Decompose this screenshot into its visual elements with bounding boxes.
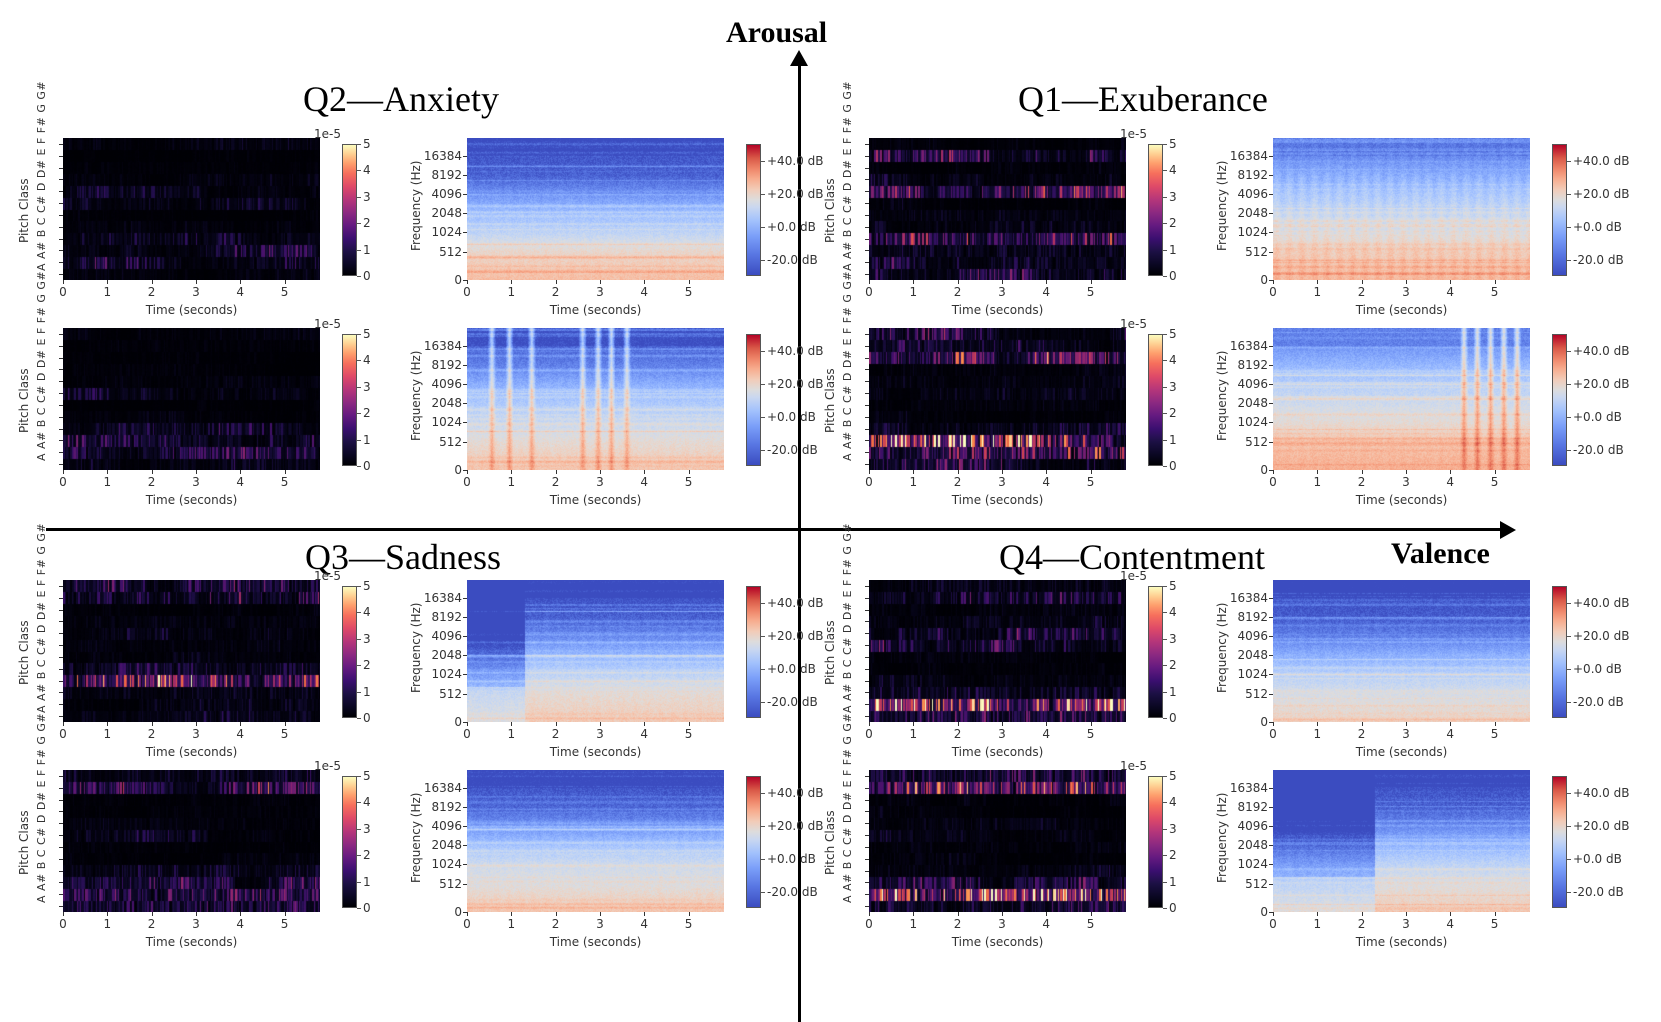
ylabel-q4-row2-chromagram: Pitch Class [823, 810, 837, 875]
colorbar-tick-mark-q1-row2-chromagram-5 [1163, 334, 1167, 335]
xtick-mark-q2-row2-spectrogram-2 [556, 470, 557, 474]
xtick-mark-q1-row2-spectrogram-1 [1317, 470, 1318, 474]
ytick-mark-q1-row1-spectrogram-1024 [1269, 232, 1273, 233]
spectrogram-image-q2-row2-spectrogram [467, 328, 724, 470]
panel-q2-row2-spectrogram: Frequency (Hz)05121024204840968192163840… [467, 328, 844, 515]
ytick-mark-q4-row1-chromagram-2 [865, 692, 869, 693]
xtick-mark-q3-row1-chromagram-3 [196, 722, 197, 726]
xtick-mark-q4-row2-spectrogram-1 [1317, 912, 1318, 916]
ytick-mark-q1-row2-chromagram-8 [865, 369, 869, 370]
xtick-q1-row2-chromagram-0: 0 [857, 475, 881, 489]
ytick-mark-q1-row2-chromagram-7 [865, 381, 869, 382]
ytick-mark-q4-row2-chromagram-7 [865, 823, 869, 824]
colorbar-q4-row2-spectrogram [1552, 776, 1567, 908]
ytick-q1-row1-spectrogram-16384: 16384 [1223, 149, 1268, 163]
chromagram-image-q3-row1-chromagram [63, 580, 320, 722]
ytick-q3-row2-spectrogram-16384: 16384 [417, 781, 462, 795]
ytick-mark-q2-row2-chromagram-1 [59, 452, 63, 453]
chromagram-image-q4-row2-chromagram [869, 770, 1126, 912]
colorbar-tick-mark-q1-row1-chromagram-3 [1163, 197, 1167, 198]
colorbar-tick-q2-row1-chromagram-5: 5 [363, 137, 371, 151]
ytick-mark-q3-row1-spectrogram-16384 [463, 598, 467, 599]
panel-q1-row2-spectrogram: Frequency (Hz)05121024204840968192163840… [1273, 328, 1650, 515]
panel-q1-row1-spectrogram: Frequency (Hz)05121024204840968192163840… [1273, 138, 1650, 325]
xtick-mark-q4-row2-spectrogram-0 [1273, 912, 1274, 916]
colorbar-tick-mark-q4-row1-spectrogram-0 [1567, 702, 1571, 703]
ytick-mark-q2-row1-chromagram-1 [59, 262, 63, 263]
xtick-mark-q2-row2-spectrogram-5 [689, 470, 690, 474]
spectrogram-image-q4-row1-spectrogram [1273, 580, 1530, 722]
xtick-mark-q3-row2-spectrogram-3 [600, 912, 601, 916]
xtick-q2-row1-chromagram-4: 4 [228, 285, 252, 299]
ytick-mark-q4-row1-chromagram-8 [865, 621, 869, 622]
xtick-q1-row2-chromagram-3: 3 [990, 475, 1014, 489]
xtick-q4-row2-spectrogram-2: 2 [1350, 917, 1374, 931]
ytick-mark-q2-row1-chromagram-10 [59, 156, 63, 157]
xtick-q4-row2-chromagram-1: 1 [901, 917, 925, 931]
ytick-mark-q2-row2-chromagram-5 [59, 405, 63, 406]
xtick-q1-row2-chromagram-2: 2 [946, 475, 970, 489]
ytick-mark-q3-row2-chromagram-7 [59, 823, 63, 824]
ytick-mark-q3-row1-spectrogram-2048 [463, 655, 467, 656]
xtick-mark-q1-row2-chromagram-3 [1002, 470, 1003, 474]
xtick-q3-row2-spectrogram-3: 3 [588, 917, 612, 931]
ytick-q4-row2-spectrogram-16384: 16384 [1223, 781, 1268, 795]
panel-q3-row2-spectrogram: Frequency (Hz)05121024204840968192163840… [467, 770, 844, 957]
panel-q4-row2-spectrogram: Frequency (Hz)05121024204840968192163840… [1273, 770, 1650, 957]
xtick-mark-q4-row1-spectrogram-3 [1406, 722, 1407, 726]
ytick-mark-q4-row2-chromagram-6 [865, 835, 869, 836]
colorbar-tick-q2-row1-chromagram-3: 3 [363, 190, 371, 204]
colorbar-tick-mark-q1-row2-spectrogram-3 [1567, 351, 1571, 352]
colorbar-tick-mark-q3-row2-spectrogram-2 [761, 826, 765, 827]
ytick-labels-q2-row1-chromagram: A A# B C C# D D# E F F# G G# [35, 81, 48, 271]
panel-q4-row2-chromagram: Pitch ClassA A# B C C# D D# E F F# G G#0… [869, 770, 1246, 957]
colorbar-tick-mark-q4-row2-chromagram-5 [1163, 776, 1167, 777]
colorbar-exponent-q2-row1-chromagram: 1e-5 [314, 127, 341, 141]
ytick-mark-q3-row1-chromagram-7 [59, 633, 63, 634]
xtick-q1-row1-chromagram-0: 0 [857, 285, 881, 299]
ytick-q2-row2-spectrogram-8192: 8192 [417, 358, 462, 372]
plot-area-q3-row2-chromagram [63, 770, 320, 912]
xlabel-q3-row2-chromagram: Time (seconds) [63, 935, 320, 949]
xtick-mark-q3-row2-chromagram-1 [107, 912, 108, 916]
ytick-mark-q4-row1-chromagram-9 [865, 610, 869, 611]
colorbar-tick-mark-q3-row2-spectrogram-0 [761, 892, 765, 893]
xtick-q1-row1-spectrogram-3: 3 [1394, 285, 1418, 299]
xtick-mark-q1-row1-spectrogram-3 [1406, 280, 1407, 284]
ytick-mark-q3-row1-chromagram-0 [59, 716, 63, 717]
colorbar-tick-mark-q4-row2-chromagram-4 [1163, 802, 1167, 803]
xtick-mark-q2-row2-chromagram-1 [107, 470, 108, 474]
ytick-mark-q1-row2-chromagram-6 [865, 393, 869, 394]
spectrogram-image-q3-row2-spectrogram [467, 770, 724, 912]
colorbar-tick-q4-row1-chromagram-1: 1 [1169, 685, 1177, 699]
xtick-mark-q2-row1-chromagram-4 [240, 280, 241, 284]
ytick-mark-q4-row2-spectrogram-512 [1269, 884, 1273, 885]
colorbar-tick-q3-row1-chromagram-4: 4 [363, 605, 371, 619]
xtick-mark-q2-row2-chromagram-0 [63, 470, 64, 474]
ytick-mark-q1-row2-chromagram-3 [865, 429, 869, 430]
plot-area-q2-row2-spectrogram [467, 328, 724, 470]
ytick-mark-q1-row2-chromagram-0 [865, 464, 869, 465]
xlabel-q4-row1-chromagram: Time (seconds) [869, 745, 1126, 759]
colorbar-tick-mark-q2-row2-spectrogram-1 [761, 417, 765, 418]
colorbar-tick-mark-q1-row1-spectrogram-0 [1567, 260, 1571, 261]
xtick-q4-row1-chromagram-4: 4 [1034, 727, 1058, 741]
colorbar-q3-row2-spectrogram [746, 776, 761, 908]
ytick-q4-row1-spectrogram-1024: 1024 [1223, 667, 1268, 681]
ytick-mark-q1-row2-spectrogram-8192 [1269, 365, 1273, 366]
colorbar-tick-q1-row1-chromagram-2: 2 [1169, 216, 1177, 230]
xtick-mark-q3-row2-spectrogram-2 [556, 912, 557, 916]
xtick-mark-q2-row1-spectrogram-2 [556, 280, 557, 284]
xtick-q1-row1-spectrogram-2: 2 [1350, 285, 1374, 299]
xtick-mark-q4-row2-spectrogram-4 [1450, 912, 1451, 916]
colorbar-tick-q2-row2-chromagram-3: 3 [363, 380, 371, 394]
colorbar-tick-q1-row1-spectrogram-1: +0.0 dB [1573, 220, 1622, 234]
colorbar-tick-mark-q3-row2-spectrogram-1 [761, 859, 765, 860]
ytick-mark-q1-row2-spectrogram-16384 [1269, 346, 1273, 347]
xtick-q4-row1-spectrogram-0: 0 [1261, 727, 1285, 741]
ytick-mark-q1-row2-spectrogram-1024 [1269, 422, 1273, 423]
xtick-mark-q3-row2-spectrogram-5 [689, 912, 690, 916]
ytick-labels-q2-row2-chromagram: A A# B C C# D D# E F F# G G# [35, 271, 48, 461]
colorbar-q3-row1-chromagram [342, 586, 357, 718]
xtick-q2-row1-spectrogram-0: 0 [455, 285, 479, 299]
ytick-mark-q2-row2-chromagram-9 [59, 358, 63, 359]
ytick-mark-q1-row2-chromagram-11 [865, 334, 869, 335]
ytick-mark-q2-row1-spectrogram-1024 [463, 232, 467, 233]
panel-q1-row1-chromagram: Pitch ClassA A# B C C# D D# E F F# G G#0… [869, 138, 1246, 325]
ylabel-q4-row1-chromagram: Pitch Class [823, 620, 837, 685]
colorbar-tick-q3-row1-chromagram-1: 1 [363, 685, 371, 699]
colorbar-tick-mark-q2-row1-spectrogram-0 [761, 260, 765, 261]
xtick-mark-q3-row1-chromagram-4 [240, 722, 241, 726]
xtick-mark-q1-row2-spectrogram-2 [1362, 470, 1363, 474]
ytick-mark-q2-row2-spectrogram-2048 [463, 403, 467, 404]
xtick-mark-q3-row2-spectrogram-4 [644, 912, 645, 916]
ytick-q4-row2-spectrogram-8192: 8192 [1223, 800, 1268, 814]
colorbar-tick-q2-row2-spectrogram-2: +20.0 dB [767, 377, 823, 391]
ytick-q4-row2-spectrogram-1024: 1024 [1223, 857, 1268, 871]
ytick-mark-q4-row2-chromagram-4 [865, 859, 869, 860]
xtick-mark-q2-row1-chromagram-0 [63, 280, 64, 284]
colorbar-tick-mark-q2-row2-chromagram-0 [357, 466, 361, 467]
ytick-mark-q3-row2-chromagram-9 [59, 800, 63, 801]
ylabel-q1-row1-chromagram: Pitch Class [823, 178, 837, 243]
colorbar-tick-q1-row1-chromagram-0: 0 [1169, 269, 1177, 283]
xtick-mark-q1-row1-spectrogram-4 [1450, 280, 1451, 284]
ytick-mark-q2-row1-spectrogram-8192 [463, 175, 467, 176]
plot-area-q3-row2-spectrogram [467, 770, 724, 912]
colorbar-tick-q1-row2-spectrogram-1: +0.0 dB [1573, 410, 1622, 424]
colorbar-tick-q2-row1-spectrogram-2: +20.0 dB [767, 187, 823, 201]
xtick-q4-row1-chromagram-1: 1 [901, 727, 925, 741]
plot-area-q2-row1-chromagram [63, 138, 320, 280]
panel-q2-row1-spectrogram: Frequency (Hz)05121024204840968192163840… [467, 138, 844, 325]
xtick-q2-row2-spectrogram-3: 3 [588, 475, 612, 489]
panel-q2-row1-chromagram: Pitch ClassA A# B C C# D D# E F F# G G#0… [63, 138, 440, 325]
ytick-mark-q2-row1-spectrogram-2048 [463, 213, 467, 214]
colorbar-tick-mark-q3-row1-spectrogram-3 [761, 603, 765, 604]
xtick-q3-row2-spectrogram-4: 4 [632, 917, 656, 931]
xlabel-q4-row2-chromagram: Time (seconds) [869, 935, 1126, 949]
ytick-q1-row2-spectrogram-1024: 1024 [1223, 415, 1268, 429]
xtick-q3-row1-spectrogram-3: 3 [588, 727, 612, 741]
xlabel-q2-row2-chromagram: Time (seconds) [63, 493, 320, 507]
ylabel-q3-row2-chromagram: Pitch Class [17, 810, 31, 875]
xtick-q1-row2-spectrogram-0: 0 [1261, 475, 1285, 489]
ytick-q4-row1-spectrogram-4096: 4096 [1223, 629, 1268, 643]
ytick-q3-row1-spectrogram-16384: 16384 [417, 591, 462, 605]
colorbar-tick-q3-row2-chromagram-5: 5 [363, 769, 371, 783]
colorbar-tick-mark-q4-row2-chromagram-3 [1163, 829, 1167, 830]
ytick-q2-row1-spectrogram-512: 512 [417, 245, 462, 259]
xtick-mark-q1-row1-spectrogram-2 [1362, 280, 1363, 284]
ytick-labels-q1-row1-chromagram: A A# B C C# D D# E F F# G G# [841, 81, 854, 271]
ytick-mark-q1-row1-chromagram-8 [865, 179, 869, 180]
xtick-q4-row2-chromagram-5: 5 [1079, 917, 1103, 931]
xtick-mark-q1-row2-spectrogram-5 [1495, 470, 1496, 474]
colorbar-tick-q2-row2-chromagram-2: 2 [363, 406, 371, 420]
plot-area-q3-row1-chromagram [63, 580, 320, 722]
colorbar-q3-row1-spectrogram [746, 586, 761, 718]
colorbar-tick-mark-q2-row1-spectrogram-2 [761, 194, 765, 195]
ytick-mark-q3-row2-chromagram-0 [59, 906, 63, 907]
ytick-mark-q4-row1-chromagram-5 [865, 657, 869, 658]
colorbar-tick-mark-q1-row2-chromagram-2 [1163, 413, 1167, 414]
spectrogram-image-q1-row1-spectrogram [1273, 138, 1530, 280]
xtick-mark-q4-row1-chromagram-2 [958, 722, 959, 726]
ytick-mark-q4-row1-chromagram-1 [865, 704, 869, 705]
xlabel-q4-row1-spectrogram: Time (seconds) [1273, 745, 1530, 759]
colorbar-tick-mark-q2-row1-chromagram-4 [357, 170, 361, 171]
panel-q3-row2-chromagram: Pitch ClassA A# B C C# D D# E F F# G G#0… [63, 770, 440, 957]
colorbar-tick-mark-q4-row2-spectrogram-1 [1567, 859, 1571, 860]
xlabel-q3-row1-chromagram: Time (seconds) [63, 745, 320, 759]
plot-area-q3-row1-spectrogram [467, 580, 724, 722]
colorbar-tick-q2-row1-chromagram-2: 2 [363, 216, 371, 230]
xtick-q4-row1-spectrogram-4: 4 [1438, 727, 1462, 741]
xlabel-q4-row2-spectrogram: Time (seconds) [1273, 935, 1530, 949]
colorbar-tick-q3-row2-spectrogram-0: -20.0 dB [767, 885, 818, 899]
colorbar-tick-q2-row1-chromagram-0: 0 [363, 269, 371, 283]
xtick-mark-q4-row1-chromagram-5 [1091, 722, 1092, 726]
xtick-mark-q1-row2-chromagram-5 [1091, 470, 1092, 474]
xtick-q2-row2-chromagram-5: 5 [273, 475, 297, 489]
ytick-labels-q4-row1-chromagram: A A# B C C# D D# E F F# G G# [841, 523, 854, 713]
ytick-q2-row1-spectrogram-8192: 8192 [417, 168, 462, 182]
xtick-mark-q4-row2-spectrogram-5 [1495, 912, 1496, 916]
ytick-mark-q3-row2-chromagram-5 [59, 847, 63, 848]
figure-root: Arousal Valence Q2—Anxiety Q1—Exuberance… [0, 0, 1661, 1022]
colorbar-tick-mark-q1-row1-spectrogram-3 [1567, 161, 1571, 162]
ytick-mark-q3-row1-spectrogram-8192 [463, 617, 467, 618]
xtick-mark-q2-row2-chromagram-5 [285, 470, 286, 474]
xtick-mark-q1-row2-chromagram-0 [869, 470, 870, 474]
colorbar-tick-q3-row1-spectrogram-2: +20.0 dB [767, 629, 823, 643]
ytick-mark-q2-row2-chromagram-11 [59, 334, 63, 335]
xtick-mark-q2-row2-chromagram-2 [152, 470, 153, 474]
xtick-mark-q2-row1-chromagram-1 [107, 280, 108, 284]
xtick-mark-q1-row2-spectrogram-3 [1406, 470, 1407, 474]
xlabel-q3-row2-spectrogram: Time (seconds) [467, 935, 724, 949]
colorbar-tick-q4-row1-spectrogram-0: -20.0 dB [1573, 695, 1624, 709]
xlabel-q3-row1-spectrogram: Time (seconds) [467, 745, 724, 759]
colorbar-tick-q3-row2-spectrogram-1: +0.0 dB [767, 852, 816, 866]
colorbar-tick-mark-q3-row2-chromagram-5 [357, 776, 361, 777]
xtick-mark-q4-row1-spectrogram-5 [1495, 722, 1496, 726]
colorbar-tick-q4-row2-chromagram-3: 3 [1169, 822, 1177, 836]
colorbar-q4-row1-spectrogram [1552, 586, 1567, 718]
xtick-q2-row2-spectrogram-5: 5 [677, 475, 701, 489]
xtick-mark-q4-row2-chromagram-3 [1002, 912, 1003, 916]
colorbar-tick-q4-row1-spectrogram-1: +0.0 dB [1573, 662, 1622, 676]
xtick-mark-q2-row2-spectrogram-0 [467, 470, 468, 474]
ytick-mark-q1-row1-chromagram-9 [865, 168, 869, 169]
ytick-mark-q4-row1-chromagram-11 [865, 586, 869, 587]
ytick-mark-q4-row1-chromagram-4 [865, 669, 869, 670]
xtick-mark-q1-row2-chromagram-4 [1046, 470, 1047, 474]
ytick-q2-row2-spectrogram-4096: 4096 [417, 377, 462, 391]
ylabel-q1-row2-chromagram: Pitch Class [823, 368, 837, 433]
ytick-q2-row1-spectrogram-16384: 16384 [417, 149, 462, 163]
plot-area-q4-row1-chromagram [869, 580, 1126, 722]
xtick-mark-q4-row1-chromagram-4 [1046, 722, 1047, 726]
colorbar-tick-mark-q3-row2-spectrogram-3 [761, 793, 765, 794]
ytick-mark-q2-row1-chromagram-11 [59, 144, 63, 145]
xtick-q4-row1-spectrogram-2: 2 [1350, 727, 1374, 741]
ytick-q3-row1-spectrogram-4096: 4096 [417, 629, 462, 643]
ytick-mark-q2-row2-spectrogram-4096 [463, 384, 467, 385]
colorbar-tick-q3-row1-spectrogram-3: +40.0 dB [767, 596, 823, 610]
colorbar-tick-q4-row2-chromagram-5: 5 [1169, 769, 1177, 783]
xtick-mark-q2-row2-chromagram-4 [240, 470, 241, 474]
xtick-q3-row2-chromagram-3: 3 [184, 917, 208, 931]
quadrant-title-q2: Q2—Anxiety [303, 78, 499, 120]
xtick-q2-row1-chromagram-0: 0 [51, 285, 75, 299]
xtick-mark-q1-row2-chromagram-2 [958, 470, 959, 474]
xtick-q1-row1-chromagram-1: 1 [901, 285, 925, 299]
ytick-q1-row2-spectrogram-2048: 2048 [1223, 396, 1268, 410]
colorbar-q3-row2-chromagram [342, 776, 357, 908]
colorbar-tick-q2-row1-spectrogram-0: -20.0 dB [767, 253, 818, 267]
ytick-mark-q1-row1-spectrogram-512 [1269, 252, 1273, 253]
xtick-q1-row2-spectrogram-5: 5 [1483, 475, 1507, 489]
ytick-q1-row2-spectrogram-512: 512 [1223, 435, 1268, 449]
colorbar-tick-mark-q1-row1-chromagram-5 [1163, 144, 1167, 145]
xtick-mark-q2-row2-spectrogram-3 [600, 470, 601, 474]
ytick-mark-q2-row2-chromagram-2 [59, 440, 63, 441]
colorbar-tick-mark-q1-row2-spectrogram-2 [1567, 384, 1571, 385]
ytick-mark-q4-row1-chromagram-7 [865, 633, 869, 634]
colorbar-tick-mark-q1-row1-chromagram-4 [1163, 170, 1167, 171]
xtick-mark-q2-row1-spectrogram-5 [689, 280, 690, 284]
colorbar-tick-mark-q1-row1-chromagram-1 [1163, 250, 1167, 251]
colorbar-tick-q3-row1-spectrogram-0: -20.0 dB [767, 695, 818, 709]
xtick-mark-q4-row2-spectrogram-2 [1362, 912, 1363, 916]
ytick-mark-q3-row1-chromagram-10 [59, 598, 63, 599]
ytick-mark-q1-row2-chromagram-10 [865, 346, 869, 347]
colorbar-tick-q3-row2-chromagram-4: 4 [363, 795, 371, 809]
colorbar-tick-mark-q4-row2-chromagram-1 [1163, 882, 1167, 883]
xtick-q3-row1-chromagram-0: 0 [51, 727, 75, 741]
spectrogram-image-q1-row2-spectrogram [1273, 328, 1530, 470]
colorbar-q2-row2-chromagram [342, 334, 357, 466]
xlabel-q2-row1-spectrogram: Time (seconds) [467, 303, 724, 317]
spectrogram-image-q3-row1-spectrogram [467, 580, 724, 722]
ytick-mark-q4-row1-chromagram-6 [865, 645, 869, 646]
xtick-q4-row2-spectrogram-0: 0 [1261, 917, 1285, 931]
ylabel-q2-row1-chromagram: Pitch Class [17, 178, 31, 243]
ytick-q2-row2-spectrogram-16384: 16384 [417, 339, 462, 353]
xtick-mark-q1-row1-chromagram-1 [913, 280, 914, 284]
ytick-mark-q4-row2-spectrogram-1024 [1269, 864, 1273, 865]
colorbar-tick-mark-q2-row1-chromagram-5 [357, 144, 361, 145]
ytick-mark-q4-row2-chromagram-1 [865, 894, 869, 895]
colorbar-tick-mark-q1-row1-chromagram-0 [1163, 276, 1167, 277]
xtick-mark-q2-row2-spectrogram-4 [644, 470, 645, 474]
xlabel-q1-row1-chromagram: Time (seconds) [869, 303, 1126, 317]
xtick-mark-q1-row1-chromagram-5 [1091, 280, 1092, 284]
xtick-q3-row2-spectrogram-5: 5 [677, 917, 701, 931]
xtick-mark-q4-row1-spectrogram-2 [1362, 722, 1363, 726]
ytick-q4-row2-spectrogram-512: 512 [1223, 877, 1268, 891]
ytick-mark-q2-row1-chromagram-9 [59, 168, 63, 169]
ytick-mark-q1-row1-chromagram-6 [865, 203, 869, 204]
ytick-mark-q3-row1-chromagram-3 [59, 681, 63, 682]
ytick-mark-q4-row1-chromagram-3 [865, 681, 869, 682]
ytick-mark-q4-row2-chromagram-11 [865, 776, 869, 777]
colorbar-tick-mark-q4-row1-spectrogram-2 [1567, 636, 1571, 637]
xtick-mark-q2-row1-spectrogram-0 [467, 280, 468, 284]
ytick-mark-q2-row1-chromagram-5 [59, 215, 63, 216]
ytick-mark-q4-row1-spectrogram-8192 [1269, 617, 1273, 618]
colorbar-tick-mark-q3-row1-chromagram-3 [357, 639, 361, 640]
xtick-mark-q1-row2-spectrogram-4 [1450, 470, 1451, 474]
ytick-q3-row1-spectrogram-2048: 2048 [417, 648, 462, 662]
ytick-q2-row1-spectrogram-4096: 4096 [417, 187, 462, 201]
xtick-q3-row2-spectrogram-2: 2 [544, 917, 568, 931]
ytick-mark-q1-row1-chromagram-5 [865, 215, 869, 216]
ytick-q4-row1-spectrogram-8192: 8192 [1223, 610, 1268, 624]
xtick-q3-row1-chromagram-2: 2 [140, 727, 164, 741]
xtick-q1-row1-chromagram-5: 5 [1079, 285, 1103, 299]
spectrogram-image-q4-row2-spectrogram [1273, 770, 1530, 912]
ytick-labels-q3-row1-chromagram: A A# B C C# D D# E F F# G G# [35, 523, 48, 713]
ytick-mark-q2-row1-chromagram-6 [59, 203, 63, 204]
colorbar-tick-q1-row1-spectrogram-3: +40.0 dB [1573, 154, 1629, 168]
ytick-mark-q4-row2-spectrogram-16384 [1269, 788, 1273, 789]
xtick-q3-row2-chromagram-2: 2 [140, 917, 164, 931]
colorbar-tick-q1-row2-chromagram-0: 0 [1169, 459, 1177, 473]
ytick-q2-row2-spectrogram-1024: 1024 [417, 415, 462, 429]
xtick-mark-q3-row1-chromagram-0 [63, 722, 64, 726]
xtick-mark-q3-row1-chromagram-2 [152, 722, 153, 726]
colorbar-tick-q4-row2-spectrogram-2: +20.0 dB [1573, 819, 1629, 833]
colorbar-tick-q2-row2-chromagram-5: 5 [363, 327, 371, 341]
xtick-q3-row1-spectrogram-5: 5 [677, 727, 701, 741]
ytick-mark-q4-row2-chromagram-3 [865, 871, 869, 872]
panel-q3-row1-spectrogram: Frequency (Hz)05121024204840968192163840… [467, 580, 844, 767]
colorbar-tick-q3-row2-chromagram-2: 2 [363, 848, 371, 862]
ytick-mark-q2-row2-chromagram-7 [59, 381, 63, 382]
plot-area-q2-row1-spectrogram [467, 138, 724, 280]
colorbar-tick-q1-row1-spectrogram-0: -20.0 dB [1573, 253, 1624, 267]
colorbar-tick-q3-row2-spectrogram-3: +40.0 dB [767, 786, 823, 800]
ytick-mark-q3-row1-chromagram-5 [59, 657, 63, 658]
